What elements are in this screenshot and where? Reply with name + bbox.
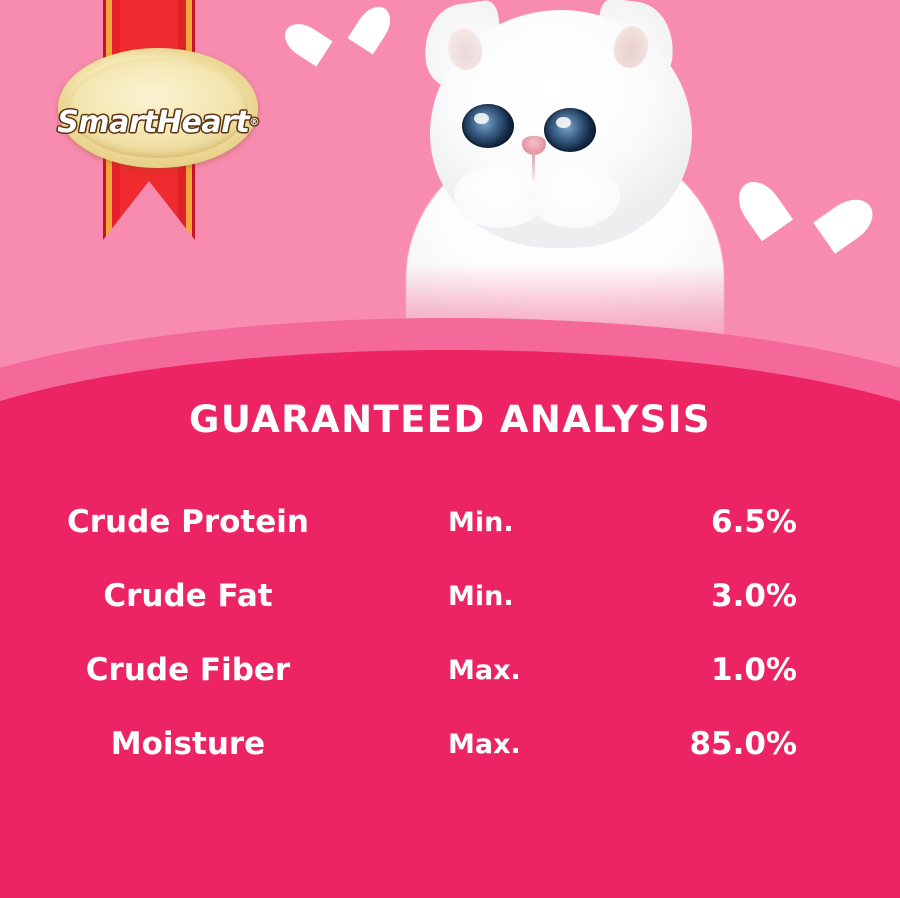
section-title: GUARANTEED ANALYSIS — [0, 398, 900, 441]
nutrient-qualifier: Min. — [360, 559, 600, 633]
smartheart-logo-badge: SmartHeart® — [58, 0, 258, 250]
cat-cheek-right — [528, 164, 620, 228]
brand-name: SmartHeart — [57, 105, 249, 140]
nutrient-value: 6.5% — [600, 485, 900, 559]
nutrient-qualifier: Min. — [360, 485, 600, 559]
nutrient-label: Moisture — [0, 707, 360, 781]
cat-eye-left — [462, 104, 514, 148]
table-row: Moisture Max. 85.0% — [0, 707, 900, 781]
table-row: Crude Protein Min. 6.5% — [0, 485, 900, 559]
heart-icon — [759, 186, 844, 268]
product-nutrition-poster: SmartHeart® GUARANTEED ANALYSIS Crude Pr… — [0, 0, 900, 898]
nutrient-label: Crude Fat — [0, 559, 360, 633]
white-persian-cat-photo — [378, 0, 750, 340]
guaranteed-analysis-section: GUARANTEED ANALYSIS Crude Protein Min. 6… — [0, 398, 900, 838]
nutrient-value: 3.0% — [600, 559, 900, 633]
brand-logo-text: SmartHeart® — [58, 0, 258, 250]
cat-eye-right — [544, 108, 596, 152]
nutrient-value: 1.0% — [600, 633, 900, 707]
heart-icon — [307, 11, 375, 78]
nutrient-qualifier: Max. — [360, 707, 600, 781]
nutrient-label: Crude Fiber — [0, 633, 360, 707]
table-row: Crude Fiber Max. 1.0% — [0, 633, 900, 707]
nutrient-qualifier: Max. — [360, 633, 600, 707]
nutrient-value: 85.0% — [600, 707, 900, 781]
table-row: Crude Fat Min. 3.0% — [0, 559, 900, 633]
nutrient-label: Crude Protein — [0, 485, 360, 559]
trademark-symbol: ® — [249, 117, 259, 128]
analysis-table: Crude Protein Min. 6.5% Crude Fat Min. 3… — [0, 485, 900, 781]
cat-muzzle-line — [532, 153, 535, 181]
